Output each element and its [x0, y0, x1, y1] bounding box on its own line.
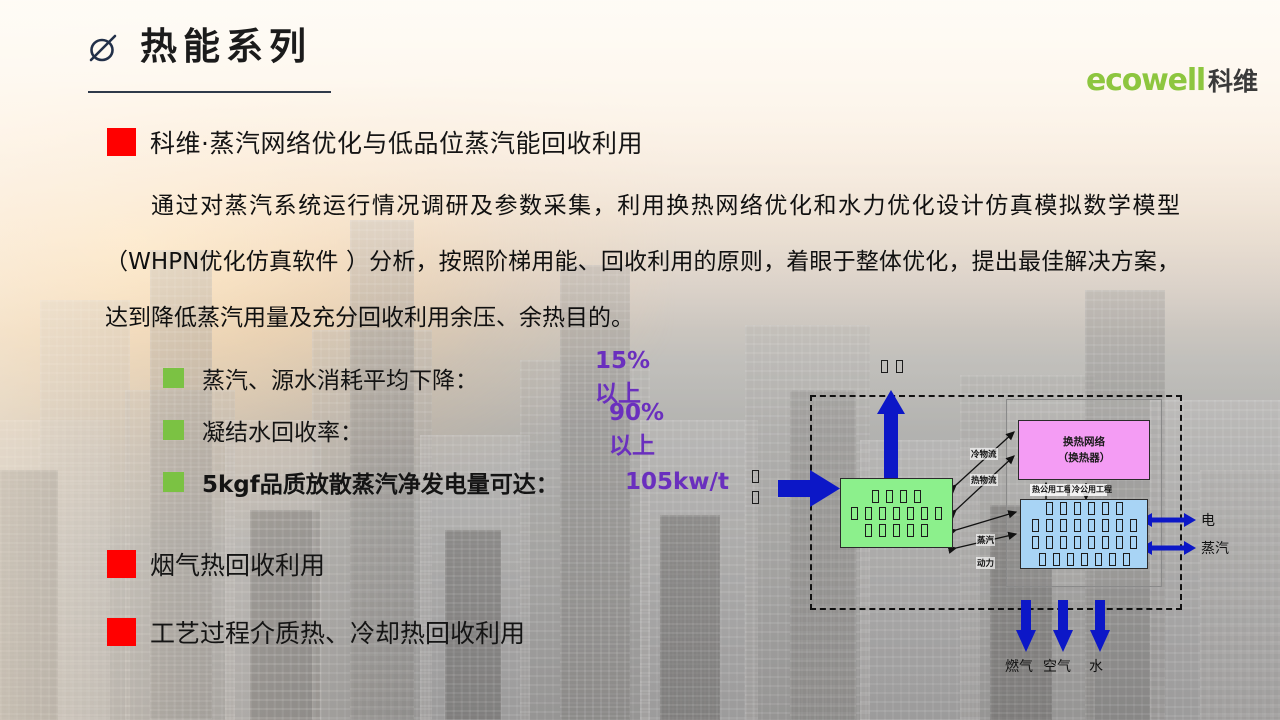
red-square-bullet-icon	[107, 128, 136, 156]
diagram-label-input-air: 空气	[1042, 656, 1072, 676]
page-title: 热能系列	[88, 28, 312, 65]
sub-item-label: 烟气热回收利用	[150, 546, 325, 582]
brand-logo: ecowell 科维	[1086, 62, 1258, 98]
unrenderable-glyph-block	[1032, 502, 1137, 566]
green-square-bullet-icon	[163, 472, 184, 492]
diagram-label-cold-stream: 冷物流	[970, 448, 998, 460]
slide-root: 热能系列 ecowell 科维 科维·蒸汽网络优化与低品位蒸汽能回收利用 通过对…	[0, 0, 1280, 720]
diagram-box-utility-system	[1020, 499, 1148, 569]
title-underline	[88, 91, 331, 93]
diagram-label-hot-utility: 热公用工程	[1030, 484, 1067, 496]
sub-items-list: 烟气热回收利用 工艺过程介质热、冷却热回收利用	[107, 530, 525, 666]
list-item: 凝结水回收率： 90%以上	[163, 404, 559, 456]
metric-label: 凝结水回收率：	[202, 413, 363, 447]
arrow-emissions-up	[877, 390, 905, 480]
green-square-bullet-icon	[163, 420, 184, 440]
diagram-label-input-water: 水	[1088, 656, 1104, 676]
list-item: 工艺过程介质热、冷却热回收利用	[107, 598, 525, 666]
page-title-text: 热能系列	[140, 28, 312, 65]
diagram-label-cold-utility: 冷公用工程	[1070, 484, 1107, 496]
headline: 科维·蒸汽网络优化与低品位蒸汽能回收利用	[107, 124, 643, 160]
diagram-label-output-steam: 蒸汽	[1200, 538, 1230, 558]
list-item: 蒸汽、源水消耗平均下降： 15%以上	[163, 352, 559, 404]
process-flow-diagram: 换热网络 （换热器） 冷物流 热物流 蒸汽 动力 热公用工程 冷公用工程	[748, 352, 1280, 720]
metric-value: 105kw/t	[625, 469, 729, 495]
arrow-feedstock-in	[778, 470, 840, 507]
brand-logo-latin: ecowell	[1086, 63, 1205, 98]
list-item: 5kgf品质放散蒸汽净发电量可达： 105kw/t	[163, 456, 559, 508]
diagram-label-top-output	[881, 360, 903, 373]
diagram-box-heat-exchange-network: 换热网络 （换热器）	[1018, 420, 1150, 480]
unrenderable-glyph-block	[851, 490, 942, 537]
green-square-bullet-icon	[163, 368, 184, 388]
sub-item-label: 工艺过程介质热、冷却热回收利用	[150, 614, 525, 650]
diagram-label-input-gas: 燃气	[1004, 656, 1034, 676]
metric-value: 15%以上	[595, 348, 650, 408]
metric-label: 5kgf品质放散蒸汽净发电量可达：	[202, 465, 559, 499]
metric-value: 90%以上	[609, 400, 664, 460]
diagram-box-subtitle: （换热器）	[1058, 450, 1111, 466]
slashed-circle-icon	[88, 30, 118, 64]
diagram-box-process	[840, 478, 953, 548]
headline-text: 科维·蒸汽网络优化与低品位蒸汽能回收利用	[150, 124, 643, 160]
red-square-bullet-icon	[107, 618, 136, 646]
diagram-label-output-electricity: 电	[1200, 510, 1216, 530]
diagram-label-power: 动力	[976, 557, 995, 569]
diagram-label-left-input	[752, 470, 759, 504]
red-square-bullet-icon	[107, 550, 136, 578]
metrics-list: 蒸汽、源水消耗平均下降： 15%以上 凝结水回收率： 90%以上 5kgf品质放…	[163, 352, 559, 508]
metric-label: 蒸汽、源水消耗平均下降：	[202, 361, 478, 395]
list-item: 烟气热回收利用	[107, 530, 525, 598]
diagram-label-hot-stream: 热物流	[970, 474, 998, 486]
diagram-box-title: 换热网络	[1063, 434, 1105, 450]
body-paragraph: 通过对蒸汽系统运行情况调研及参数采集，利用换热网络优化和水力优化设计仿真模拟数学…	[105, 178, 1180, 346]
diagram-label-steam: 蒸汽	[976, 534, 995, 546]
brand-logo-chinese: 科维	[1208, 62, 1258, 98]
